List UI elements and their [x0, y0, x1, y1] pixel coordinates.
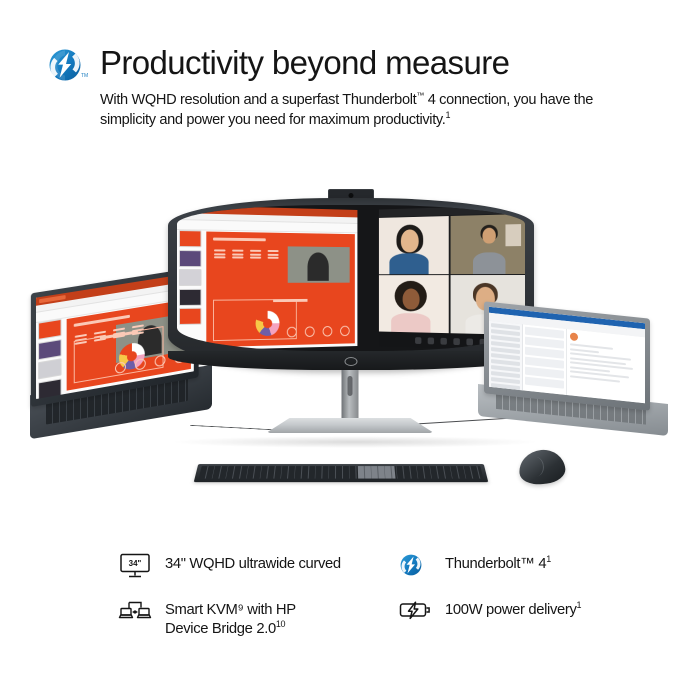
monitor-stand-base [266, 418, 434, 433]
powerpoint-window-monitor [177, 205, 357, 351]
thunderbolt-logo-icon [398, 552, 432, 580]
slide-col [250, 250, 261, 260]
slide-col [268, 250, 279, 260]
battery-bolt-icon [398, 598, 432, 626]
slide-icon-row [287, 326, 350, 338]
slide-photo [288, 246, 350, 282]
slide-thumb [179, 288, 201, 305]
trademark-mark: ™ [416, 91, 424, 100]
feature-label-power-delivery: 100W power delivery1 [445, 598, 581, 620]
subtitle-part-1: With WQHD resolution and a superfast Thu… [100, 92, 416, 108]
laptop-right-screen [489, 307, 645, 403]
slide-thumb [179, 250, 201, 267]
feature-text: 100W power delivery [445, 602, 577, 618]
monitor-34-inch-icon: 34" [118, 552, 152, 580]
outlook-window [489, 307, 645, 403]
slide-thumb [38, 358, 62, 379]
outlook-message-list[interactable] [523, 324, 567, 395]
slide-thumb [38, 319, 62, 340]
laptop-right-lid [484, 301, 650, 410]
svg-text:34": 34" [129, 559, 142, 568]
slide-col [232, 250, 243, 260]
slide-col [214, 249, 225, 259]
monitor-screen [177, 205, 525, 351]
powerpoint-body [177, 228, 357, 351]
participant-tile [450, 214, 525, 274]
smart-kvm-two-laptops-icon [118, 598, 152, 626]
feature-footnote: 10 [276, 619, 285, 629]
subtitle-footnote: 1 [445, 110, 450, 120]
slide-columns [214, 249, 279, 260]
slide-thumb [38, 378, 62, 399]
slide-subheading [273, 299, 307, 302]
participant-tile [379, 275, 449, 333]
feature-footnote: 1 [577, 600, 582, 610]
page-subtitle: With WQHD resolution and a superfast Thu… [100, 90, 620, 130]
feature-item-smart-kvm: Smart KVM⁹ with HP Device Bridge 2.010 [118, 598, 296, 639]
laptop-right [478, 310, 668, 430]
thunderbolt-logo-tm: TM [81, 73, 88, 79]
chat-icon[interactable] [466, 338, 473, 345]
floor-shadow [170, 436, 540, 448]
keyboard-keys [199, 466, 484, 478]
thunderbolt-logo-icon: TM [45, 46, 85, 86]
powerpoint-slide-canvas [203, 228, 357, 350]
slide-content [206, 232, 355, 348]
page-title: Productivity beyond measure [100, 44, 509, 82]
camera-toggle-icon[interactable] [427, 337, 433, 344]
feature-label-34-inch: 34" WQHD ultrawide curved [165, 552, 341, 574]
avatar [570, 332, 578, 341]
powerpoint-slide-thumbnails [177, 228, 203, 351]
mic-toggle-icon[interactable] [415, 337, 421, 344]
feature-footnote: 1 [546, 554, 551, 564]
slide-thumb [179, 269, 201, 286]
outlook-reading-pane [567, 329, 645, 403]
participants-icon[interactable] [453, 338, 460, 345]
outlook-folder-pane[interactable] [489, 321, 523, 391]
feature-item-34-inch: 34" 34" WQHD ultrawide curved [118, 552, 341, 580]
feature-label-smart-kvm: Smart KVM⁹ with HP Device Bridge 2.010 [165, 598, 296, 639]
slide-heading [213, 238, 266, 242]
feature-text: Thunderbolt™ 4 [445, 556, 546, 572]
slide-thumb [38, 339, 62, 360]
hero-product-image [0, 160, 700, 520]
product-feature-page: TM Productivity beyond measure With WQHD… [0, 0, 700, 700]
hp-logo [345, 357, 358, 366]
slide-thumb [179, 308, 201, 325]
wireless-keyboard [194, 464, 489, 482]
powerpoint-slide-thumbnails [36, 317, 64, 400]
share-screen-icon[interactable] [440, 337, 446, 344]
slide-thumb [179, 230, 201, 247]
feature-label-thunderbolt: Thunderbolt™ 41 [445, 552, 551, 574]
feature-item-thunderbolt: Thunderbolt™ 41 [398, 552, 551, 580]
participant-tile [379, 216, 449, 274]
monitor-stand-neck [342, 370, 359, 422]
feature-item-power-delivery: 100W power delivery1 [398, 598, 581, 626]
feature-list: 34" 34" WQHD ultrawide curved [0, 540, 700, 660]
header: TM Productivity beyond measure With WQHD… [0, 0, 700, 150]
wireless-mouse [517, 448, 566, 487]
